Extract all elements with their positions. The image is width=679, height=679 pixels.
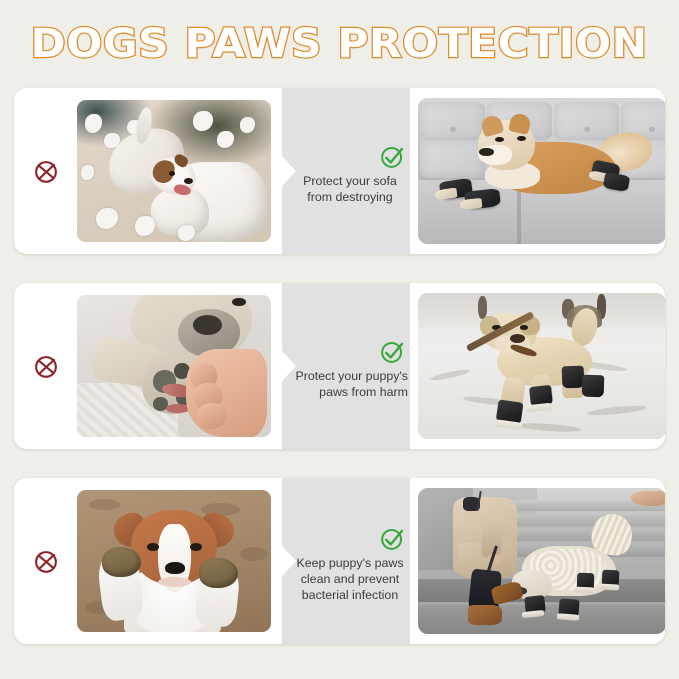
page-title: DOGS PAWS PROTECTION	[31, 21, 648, 67]
caption-text: Protect your puppy's paws from harm	[288, 368, 412, 400]
problem-photo-protect-paws	[77, 295, 271, 437]
caption-line: bacterial infection	[288, 587, 412, 603]
solution-photo-keep-paws-clean	[418, 488, 665, 634]
circle-check-icon	[379, 143, 406, 170]
infographic-page: DOGS PAWS PROTECTION	[0, 0, 679, 679]
caption-line: from destroying	[288, 189, 412, 205]
circle-check-icon	[379, 525, 406, 552]
circle-x-icon	[31, 546, 61, 576]
caption-line: paws from harm	[288, 384, 408, 400]
circle-x-icon	[31, 156, 61, 186]
cross-icon-zone	[14, 283, 77, 449]
circle-check-icon	[379, 338, 406, 365]
solution-photo-protect-paws	[418, 293, 665, 439]
caption-text: Protect your sofa from destroying	[288, 173, 412, 205]
benefit-card-protect-paws: Protect your puppy's paws from harm	[14, 283, 665, 449]
caption-line: Protect your sofa	[288, 173, 412, 189]
benefit-card-protect-sofa: Protect your sofa from destroying	[14, 88, 665, 254]
cross-icon-zone	[14, 478, 77, 644]
caption-block-protect-paws: Protect your puppy's paws from harm	[288, 283, 412, 449]
cross-icon-zone	[14, 88, 77, 254]
caption-line: Keep puppy's paws	[288, 555, 412, 571]
caption-line: Protect your puppy's	[288, 368, 408, 384]
caption-block-protect-sofa: Protect your sofa from destroying	[288, 88, 412, 254]
solution-photo-protect-sofa	[418, 98, 665, 244]
benefit-card-keep-paws-clean: Keep puppy's paws clean and prevent bact…	[14, 478, 665, 644]
problem-photo-keep-paws-clean	[77, 490, 271, 632]
caption-text: Keep puppy's paws clean and prevent bact…	[288, 555, 412, 603]
caption-block-keep-paws-clean: Keep puppy's paws clean and prevent bact…	[288, 478, 412, 644]
page-title-area: DOGS PAWS PROTECTION	[0, 18, 679, 70]
problem-photo-protect-sofa	[77, 100, 271, 242]
caption-line: clean and prevent	[288, 571, 412, 587]
circle-x-icon	[31, 351, 61, 381]
